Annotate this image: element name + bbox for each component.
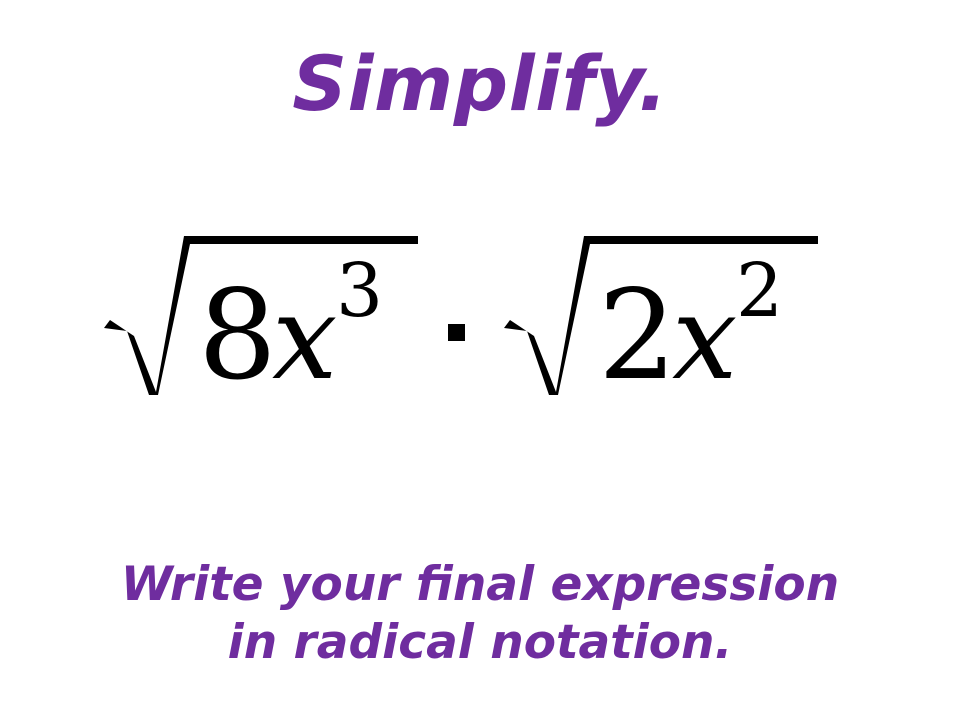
instruction-text: Write your final expression in radical n… — [0, 556, 960, 672]
math-expression-svg: 8 x 3 2 x 2 — [100, 218, 860, 408]
radicand-2-exponent: 2 — [736, 248, 783, 334]
instruction-line-2: in radical notation. — [0, 614, 960, 672]
instruction-line-1: Write your final expression — [0, 556, 960, 614]
radicand-2-coefficient: 2 — [598, 264, 677, 408]
multiplication-dot-icon — [448, 324, 465, 341]
radicand-1-coefficient: 8 — [198, 264, 277, 408]
slide-canvas: Simplify. 8 x 3 2 x 2 Write your — [0, 0, 960, 720]
page-title: Simplify. — [0, 44, 960, 124]
radicand-2-variable: x — [672, 271, 737, 406]
math-expression: 8 x 3 2 x 2 — [0, 218, 960, 408]
radicand-1-variable: x — [272, 271, 337, 406]
radicand-1-exponent: 3 — [336, 248, 383, 334]
